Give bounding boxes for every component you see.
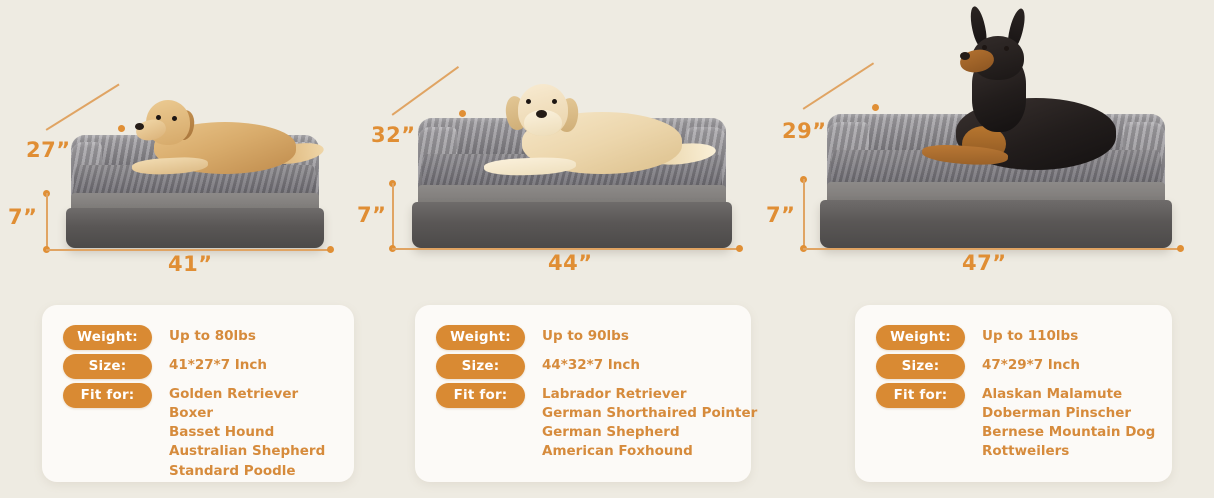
spec-value-fit-for: Golden Retriever Boxer Basset Hound Aust… [169,383,325,481]
dog-doberman-pinscher [910,6,1130,196]
spec-value-line: 44*32*7 Inch [542,356,640,375]
spec-value-fit-for: Labrador Retriever German Shorthaired Po… [542,383,757,462]
breed-item: Rottweilers [982,442,1155,461]
width-dimension-label: 47” [962,251,1007,275]
height-dimension-line [392,183,394,249]
depth-dimension-line [803,62,874,109]
product-bed-small: 27” 7” 41” [0,0,380,290]
height-dimension-line [46,193,48,250]
spec-row-size: Size: 44*32*7 Inch [436,354,640,379]
spec-label-weight: Weight: [63,325,152,350]
spec-row-fit-for: Fit for: Alaskan Malamute Doberman Pinsc… [876,383,1155,462]
spec-value-weight: Up to 90lbs [542,325,629,346]
dog-nose [960,52,970,60]
dog-eye [156,115,161,120]
spec-value-weight: Up to 110lbs [982,325,1078,346]
width-dimension-label: 41” [168,252,213,276]
spec-label-fit-for: Fit for: [876,383,965,408]
breed-item: Bernese Mountain Dog [982,423,1155,442]
spec-label-size: Size: [436,354,525,379]
spec-label-fit-for: Fit for: [63,383,152,408]
dog-eye [526,99,531,104]
spec-label-fit-for: Fit for: [436,383,525,408]
spec-card-bed-medium: Weight: Up to 90lbs Size: 44*32*7 Inch F… [415,305,751,482]
spec-row-size: Size: 47*29*7 Inch [876,354,1080,379]
height-dimension-line [803,179,805,249]
depth-dimension-line [392,66,459,115]
breed-item: Boxer [169,404,325,423]
spec-row-weight: Weight: Up to 80lbs [63,325,256,350]
depth-dimension-dot-top [459,110,466,117]
spec-card-bed-small: Weight: Up to 80lbs Size: 41*27*7 Inch F… [42,305,354,482]
width-dimension-line [803,248,1181,250]
spec-label-weight: Weight: [876,325,965,350]
dog-eye [1004,46,1009,51]
product-bed-medium: 32” 7” 44” [380,0,780,290]
dog-foreleg [132,156,209,176]
depth-dimension-dot-top [118,125,125,132]
spec-row-fit-for: Fit for: Labrador Retriever German Short… [436,383,757,462]
breed-item: American Foxhound [542,442,757,461]
spec-label-size: Size: [63,354,152,379]
spec-value-line: Up to 80lbs [169,327,256,346]
height-dimension-label: 7” [8,205,37,229]
depth-dimension-label: 32” [371,123,416,147]
spec-value-size: 41*27*7 Inch [169,354,267,375]
dog-golden-retriever-light [470,78,700,188]
depth-dimension-label: 27” [26,138,71,162]
spec-card-bed-large: Weight: Up to 110lbs Size: 47*29*7 Inch … [855,305,1172,482]
dog-nose [536,110,547,118]
dog-foreleg [484,156,577,176]
width-dimension-line [392,248,740,250]
breed-item: German Shorthaired Pointer [542,404,757,423]
breed-item: Golden Retriever [169,385,325,404]
spec-value-line: 47*29*7 Inch [982,356,1080,375]
dog-eye [172,116,177,121]
spec-value-line: Up to 90lbs [542,327,629,346]
spec-row-weight: Weight: Up to 90lbs [436,325,629,350]
depth-dimension-label: 29” [782,119,827,143]
width-dimension-line [46,249,331,251]
width-dimension-label: 44” [548,251,593,275]
spec-label-size: Size: [876,354,965,379]
breed-item: Labrador Retriever [542,385,757,404]
bed-base [820,200,1172,248]
width-dimension-dot-right [327,246,334,253]
breed-item: Alaskan Malamute [982,385,1155,404]
spec-label-weight: Weight: [436,325,525,350]
breed-item: German Shepherd [542,423,757,442]
spec-value-size: 44*32*7 Inch [542,354,640,375]
spec-row-fit-for: Fit for: Golden Retriever Boxer Basset H… [63,383,325,481]
bed-base [66,208,324,248]
depth-dimension-dot-top [872,104,879,111]
product-bed-large: 29” 7” 47” [780,0,1214,290]
depth-dimension-line [46,84,120,131]
spec-row-size: Size: 41*27*7 Inch [63,354,267,379]
dog-eye [552,99,557,104]
infographic-stage: 27” 7” 41” [0,0,1214,498]
width-dimension-dot-right [736,245,743,252]
dog-nose [135,123,144,130]
spec-value-weight: Up to 80lbs [169,325,256,346]
breed-item: Australian Shepherd [169,442,325,461]
spec-value-size: 47*29*7 Inch [982,354,1080,375]
dog-golden-retriever [120,96,310,182]
breed-item: Basset Hound [169,423,325,442]
bed-base [412,202,732,248]
dog-eye [982,45,987,50]
width-dimension-dot-right [1177,245,1184,252]
height-dimension-label: 7” [766,203,795,227]
spec-value-line: 41*27*7 Inch [169,356,267,375]
spec-value-line: Up to 110lbs [982,327,1078,346]
breed-item: Doberman Pinscher [982,404,1155,423]
height-dimension-label: 7” [357,203,386,227]
spec-value-fit-for: Alaskan Malamute Doberman Pinscher Berne… [982,383,1155,462]
spec-row-weight: Weight: Up to 110lbs [876,325,1078,350]
breed-item: Standard Poodle [169,462,325,481]
